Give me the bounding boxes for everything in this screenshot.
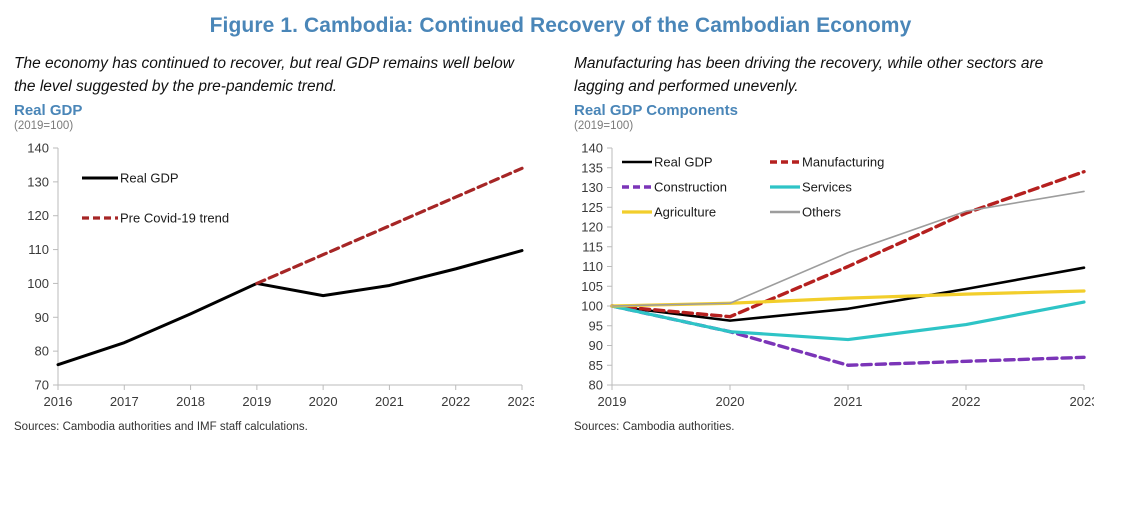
y-tick-label: 85 (589, 357, 603, 372)
y-tick-label: 120 (27, 208, 49, 223)
left-panel-caption: The economy has continued to recover, bu… (14, 52, 534, 99)
x-tick-label: 2020 (309, 394, 338, 409)
y-tick-label: 95 (589, 318, 603, 333)
legend-label: Others (802, 204, 842, 219)
x-tick-label: 2023 (508, 394, 534, 409)
right-panel-caption: Manufacturing has been driving the recov… (574, 52, 1094, 99)
series-line (257, 168, 522, 283)
left-chart-plot: 7080901001101201301402016201720182019202… (14, 140, 560, 415)
y-tick-label: 115 (582, 239, 603, 254)
left-chart-source: Sources: Cambodia authorities and IMF st… (14, 421, 560, 433)
y-tick-label: 90 (35, 309, 49, 324)
right-chart-svg: 8085909510010511011512012513013514020192… (574, 140, 1094, 415)
y-tick-label: 140 (581, 140, 603, 155)
y-tick-label: 135 (581, 160, 603, 175)
x-tick-label: 2020 (716, 394, 745, 409)
figure-title: Figure 1. Cambodia: Continued Recovery o… (0, 0, 1121, 38)
panels-container: The economy has continued to recover, bu… (0, 52, 1121, 433)
x-tick-label: 2023 (1070, 394, 1094, 409)
x-tick-label: 2019 (242, 394, 271, 409)
right-chart-title: Real GDP Components (574, 102, 1121, 119)
y-tick-label: 100 (581, 298, 603, 313)
x-tick-label: 2022 (952, 394, 981, 409)
y-tick-label: 130 (581, 180, 603, 195)
legend-label: Manufacturing (802, 154, 884, 169)
x-tick-label: 2021 (375, 394, 404, 409)
y-tick-label: 125 (581, 199, 603, 214)
left-panel: The economy has continued to recover, bu… (0, 52, 560, 433)
right-chart-plot: 8085909510010511011512012513013514020192… (574, 140, 1121, 415)
left-chart-title: Real GDP (14, 102, 560, 119)
right-panel: Manufacturing has been driving the recov… (560, 52, 1121, 433)
legend-label: Construction (654, 179, 727, 194)
y-tick-label: 120 (581, 219, 603, 234)
y-tick-label: 90 (589, 338, 603, 353)
legend-label: Agriculture (654, 204, 716, 219)
x-tick-label: 2018 (176, 394, 205, 409)
y-tick-label: 70 (35, 377, 49, 392)
x-tick-label: 2022 (441, 394, 470, 409)
legend-label: Real GDP (654, 154, 713, 169)
y-tick-label: 80 (35, 343, 49, 358)
legend-label: Pre Covid-19 trend (120, 210, 229, 225)
series-line (58, 250, 522, 364)
y-tick-label: 110 (28, 242, 49, 257)
legend-label: Services (802, 179, 852, 194)
x-tick-label: 2016 (44, 394, 73, 409)
x-tick-label: 2017 (110, 394, 139, 409)
left-chart-units: (2019=100) (14, 120, 560, 132)
y-tick-label: 105 (581, 278, 603, 293)
left-chart-svg: 7080901001101201301402016201720182019202… (14, 140, 534, 415)
y-tick-label: 100 (27, 275, 49, 290)
x-tick-label: 2019 (598, 394, 627, 409)
y-tick-label: 140 (27, 140, 49, 155)
right-chart-units: (2019=100) (574, 120, 1121, 132)
y-tick-label: 80 (589, 377, 603, 392)
legend-label: Real GDP (120, 170, 179, 185)
y-tick-label: 110 (582, 259, 603, 274)
x-tick-label: 2021 (834, 394, 863, 409)
y-tick-label: 130 (27, 174, 49, 189)
right-chart-source: Sources: Cambodia authorities. (574, 421, 1121, 433)
